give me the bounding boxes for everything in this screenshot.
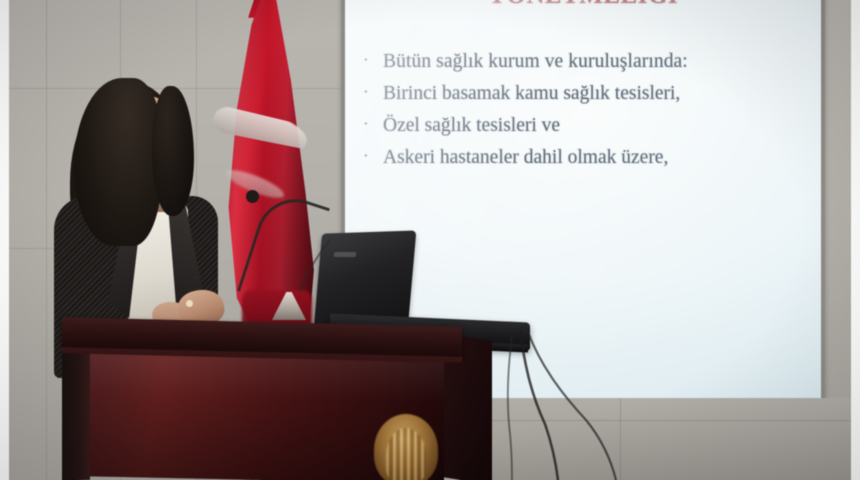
floor-seam	[620, 398, 621, 480]
bullet-point-icon: ·	[363, 146, 383, 166]
presenter-ring	[186, 300, 193, 307]
slide-bullet-text: Birinci basamak kamu sağlık tesisleri,	[383, 82, 813, 105]
slide-bullet-text: Bütün sağlık kurum ve kuruluşlarında:	[383, 50, 813, 73]
laptop-logo	[334, 252, 357, 257]
presentation-photo: YÖNETMELİĞİ · Bütün sağlık kurum ve kuru…	[0, 0, 860, 480]
list-item: · Birinci basamak kamu sağlık tesisleri,	[363, 82, 813, 105]
bullet-point-icon: ·	[363, 114, 383, 134]
bullet-point-icon: ·	[363, 82, 383, 102]
right-margin	[851, 0, 860, 480]
slide-bullet-list: · Bütün sağlık kurum ve kuruluşlarında: …	[363, 50, 813, 178]
slide-bullet-text: Askeri hastaneler dahil olmak üzere,	[383, 146, 813, 169]
microphone-capsule-icon	[246, 190, 259, 203]
presenter-hair-front	[74, 78, 162, 246]
wall-seam	[46, 0, 47, 480]
presenter-hair-curl	[152, 86, 194, 216]
podium-emblem-detail	[386, 428, 426, 480]
bullet-point-icon: ·	[363, 50, 383, 70]
list-item: · Özel sağlık tesisleri ve	[363, 114, 813, 137]
list-item: · Askeri hastaneler dahil olmak üzere,	[363, 146, 813, 169]
floor-seam	[488, 420, 852, 421]
slide-bullet-text: Özel sağlık tesisleri ve	[383, 114, 813, 137]
list-item: · Bütün sağlık kurum ve kuruluşlarında:	[363, 50, 813, 73]
left-margin	[0, 0, 9, 480]
floor	[488, 398, 852, 480]
slide-title: YÖNETMELİĞİ	[345, 0, 821, 10]
